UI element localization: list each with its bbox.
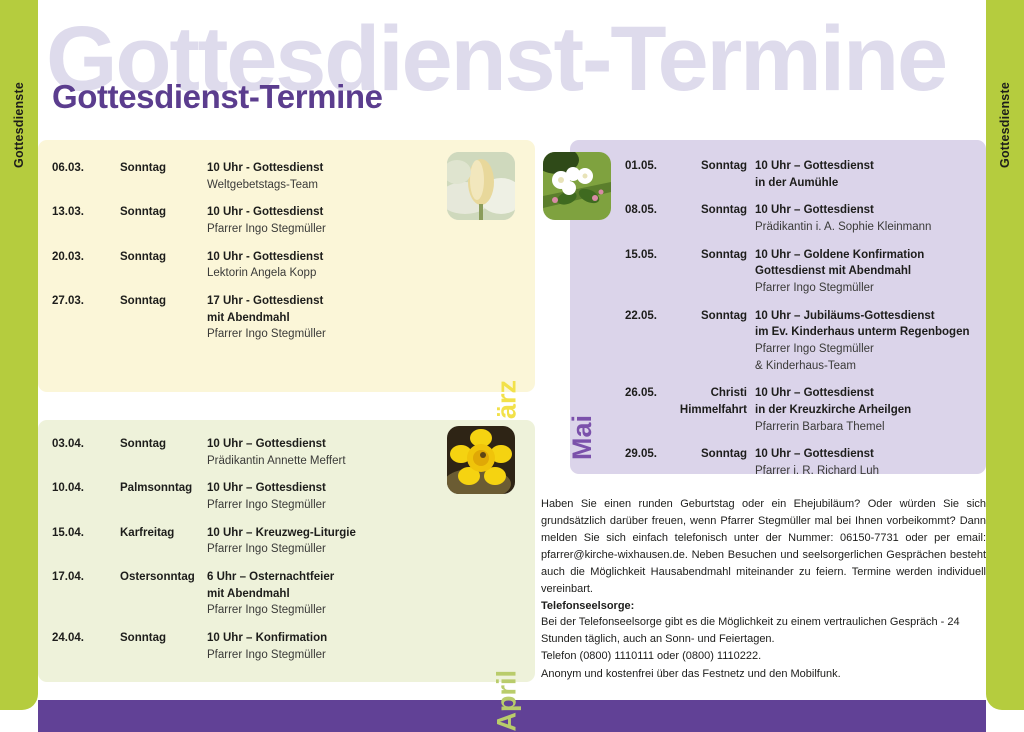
month-panel-mai: Mai01.05.Sonntag10 Uhr – Gottesdienstin … [570, 140, 986, 474]
service-officiant: Pfarrer Ingo Stegmüller [207, 647, 442, 664]
service-title: 10 Uhr - Gottesdienst [207, 249, 442, 266]
service-description: 10 Uhr – Goldene KonfirmationGottesdiens… [755, 247, 973, 297]
service-officiant: Pfarrer Ingo Stegmüller [755, 341, 973, 358]
service-description: 10 Uhr – Gottesdienstin der Aumühle [755, 158, 973, 191]
service-weekday: Sonntag [679, 247, 755, 264]
service-row: 27.03.Sonntag17 Uhr - Gottesdienstmit Ab… [52, 293, 442, 343]
service-weekday: Sonntag [120, 160, 207, 177]
service-date: 17.04. [52, 569, 120, 586]
service-date: 10.04. [52, 480, 120, 497]
service-title-line2: Gottesdienst mit Abendmahl [755, 263, 973, 280]
telefonseelsorge-line: Telefon (0800) 1110111 oder (0800) 11102… [541, 648, 986, 665]
service-description: 10 Uhr – GottesdienstPfarrer Ingo Stegmü… [207, 480, 442, 513]
service-title: 10 Uhr – Goldene Konfirmation [755, 247, 973, 264]
page-title: Gottesdienst-Termine [52, 80, 383, 113]
service-weekday: Sonntag [679, 202, 755, 219]
service-weekday: Sonntag [120, 204, 207, 221]
service-row: 20.03.Sonntag10 Uhr - GottesdienstLektor… [52, 249, 442, 282]
service-description: 10 Uhr – Jubiläums-Gottesdienstim Ev. Ki… [755, 308, 973, 375]
service-title: 6 Uhr – Osternachtfeier [207, 569, 442, 586]
service-description: 17 Uhr - Gottesdienstmit AbendmahlPfarre… [207, 293, 442, 343]
service-list-mai: 01.05.Sonntag10 Uhr – Gottesdienstin der… [625, 158, 973, 491]
service-title-line2: im Ev. Kinderhaus unterm Regenbogen [755, 324, 973, 341]
page-root: Gottesdienste Gottesdienste Gottesdienst… [0, 0, 1024, 732]
service-officiant: Pfarrer Ingo Stegmüller [207, 602, 442, 619]
service-date: 13.03. [52, 204, 120, 221]
side-tab-left-label: Gottesdienste [12, 82, 26, 168]
service-officiant: Pfarrer i. R. Richard Luh [755, 463, 973, 480]
service-officiant: Weltgebetstags-Team [207, 177, 442, 194]
service-description: 10 Uhr – Gottesdienstin der Kreuzkirche … [755, 385, 973, 435]
telefonseelsorge-heading: Telefonseelsorge: [541, 598, 986, 615]
service-weekday: ChristiHimmelfahrt [679, 385, 755, 418]
service-row: 17.04.Ostersonntag6 Uhr – Osternachtfeie… [52, 569, 442, 619]
service-row: 03.04.Sonntag10 Uhr – GottesdienstPrädik… [52, 436, 442, 469]
service-officiant: Prädikantin Annette Meffert [207, 453, 442, 470]
service-title: 17 Uhr - Gottesdienst [207, 293, 442, 310]
service-row: 29.05.Sonntag10 Uhr – GottesdienstPfarre… [625, 446, 973, 479]
service-officiant: Pfarrer Ingo Stegmüller [207, 541, 442, 558]
service-list-april: 03.04.Sonntag10 Uhr – GottesdienstPrädik… [52, 436, 442, 674]
service-title: 10 Uhr – Gottesdienst [755, 446, 973, 463]
service-officiant: & Kinderhaus-Team [755, 358, 973, 375]
service-title: 10 Uhr – Jubiläums-Gottesdienst [755, 308, 973, 325]
service-weekday: Sonntag [120, 249, 207, 266]
service-date: 15.04. [52, 525, 120, 542]
service-description: 10 Uhr – GottesdienstPrädikantin Annette… [207, 436, 442, 469]
service-title-line2: mit Abendmahl [207, 310, 442, 327]
service-row: 15.04.Karfreitag10 Uhr – Kreuzweg-Liturg… [52, 525, 442, 558]
service-date: 27.03. [52, 293, 120, 310]
service-description: 10 Uhr - GottesdienstPfarrer Ingo Stegmü… [207, 204, 442, 237]
service-title: 10 Uhr – Konfirmation [207, 630, 442, 647]
side-tab-left: Gottesdienste [0, 0, 38, 710]
telefonseelsorge-body: Bei der Telefonseelsorge gibt es die Mög… [541, 614, 986, 665]
service-weekday: Sonntag [679, 158, 755, 175]
side-tab-right: Gottesdienste [986, 0, 1024, 710]
service-weekday: Karfreitag [120, 525, 207, 542]
service-date: 26.05. [625, 385, 679, 402]
service-officiant: Pfarrer Ingo Stegmüller [207, 326, 442, 343]
service-title: 10 Uhr – Gottesdienst [207, 436, 442, 453]
telefonseelsorge-line: Bei der Telefonseelsorge gibt es die Mög… [541, 614, 986, 648]
service-title-line2: in der Aumühle [755, 175, 973, 192]
service-weekday: Sonntag [679, 446, 755, 463]
service-row: 01.05.Sonntag10 Uhr – Gottesdienstin der… [625, 158, 973, 191]
service-title: 10 Uhr – Gottesdienst [755, 202, 973, 219]
apple-blossom-photo [543, 152, 611, 220]
month-panel-april: April03.04.Sonntag10 Uhr – GottesdienstP… [38, 420, 535, 682]
service-weekday: Ostersonntag [120, 569, 207, 586]
service-officiant: Pfarrer Ingo Stegmüller [755, 280, 973, 297]
service-title: 10 Uhr – Gottesdienst [755, 385, 973, 402]
service-row: 26.05.ChristiHimmelfahrt10 Uhr – Gottesd… [625, 385, 973, 435]
month-panel-maerz: März06.03.Sonntag10 Uhr - GottesdienstWe… [38, 140, 535, 392]
service-officiant: Pfarrerin Barbara Themel [755, 419, 973, 436]
service-officiant: Pfarrer Ingo Stegmüller [207, 221, 442, 238]
service-row: 08.05.Sonntag10 Uhr – GottesdienstPrädik… [625, 202, 973, 235]
service-officiant: Lektorin Angela Kopp [207, 265, 442, 282]
service-date: 06.03. [52, 160, 120, 177]
service-title: 10 Uhr – Gottesdienst [755, 158, 973, 175]
month-label-april: April [494, 670, 521, 732]
intro-paragraph: Haben Sie einen runden Geburtstag oder e… [541, 496, 986, 598]
service-title: 10 Uhr – Kreuzweg-Liturgie [207, 525, 442, 542]
service-date: 24.04. [52, 630, 120, 647]
month-label-mai: Mai [569, 415, 596, 460]
service-weekday: Sonntag [120, 436, 207, 453]
service-row: 10.04.Palmsonntag10 Uhr – GottesdienstPf… [52, 480, 442, 513]
telefonseelsorge-note: Anonym und kostenfrei über das Festnetz … [541, 666, 986, 683]
service-description: 10 Uhr – GottesdienstPrädikantin i. A. S… [755, 202, 973, 235]
service-description: 10 Uhr - GottesdienstWeltgebetstags-Team [207, 160, 442, 193]
service-title: 10 Uhr – Gottesdienst [207, 480, 442, 497]
service-date: 08.05. [625, 202, 679, 219]
tulip-photo [447, 152, 515, 220]
service-date: 15.05. [625, 247, 679, 264]
service-row: 06.03.Sonntag10 Uhr - GottesdienstWeltge… [52, 160, 442, 193]
service-weekday: Sonntag [120, 630, 207, 647]
service-description: 10 Uhr – KonfirmationPfarrer Ingo Stegmü… [207, 630, 442, 663]
page-header: Gottesdienst-Termine Gottesdienst-Termin… [38, 0, 986, 140]
service-title-line2: in der Kreuzkirche Arheilgen [755, 402, 973, 419]
service-row: 13.03.Sonntag10 Uhr - GottesdienstPfarre… [52, 204, 442, 237]
service-title: 10 Uhr - Gottesdienst [207, 160, 442, 177]
service-date: 01.05. [625, 158, 679, 175]
service-row: 24.04.Sonntag10 Uhr – KonfirmationPfarre… [52, 630, 442, 663]
service-date: 20.03. [52, 249, 120, 266]
service-description: 10 Uhr – Kreuzweg-LiturgiePfarrer Ingo S… [207, 525, 442, 558]
service-row: 15.05.Sonntag10 Uhr – Goldene Konfirmati… [625, 247, 973, 297]
service-description: 6 Uhr – Osternachtfeiermit AbendmahlPfar… [207, 569, 442, 619]
service-list-maerz: 06.03.Sonntag10 Uhr - GottesdienstWeltge… [52, 160, 442, 354]
service-description: 10 Uhr – GottesdienstPfarrer i. R. Richa… [755, 446, 973, 479]
service-title: 10 Uhr - Gottesdienst [207, 204, 442, 221]
service-weekday: Sonntag [679, 308, 755, 325]
service-row: 22.05.Sonntag10 Uhr – Jubiläums-Gottesdi… [625, 308, 973, 375]
service-officiant: Pfarrer Ingo Stegmüller [207, 497, 442, 514]
service-date: 03.04. [52, 436, 120, 453]
service-date: 22.05. [625, 308, 679, 325]
daffodil-photo [447, 426, 515, 494]
service-weekday: Sonntag [120, 293, 207, 310]
service-date: 29.05. [625, 446, 679, 463]
side-tab-right-label: Gottesdienste [998, 82, 1012, 168]
service-title-line2: mit Abendmahl [207, 586, 442, 603]
service-weekday: Palmsonntag [120, 480, 207, 497]
service-description: 10 Uhr - GottesdienstLektorin Angela Kop… [207, 249, 442, 282]
service-officiant: Prädikantin i. A. Sophie Kleinmann [755, 219, 973, 236]
